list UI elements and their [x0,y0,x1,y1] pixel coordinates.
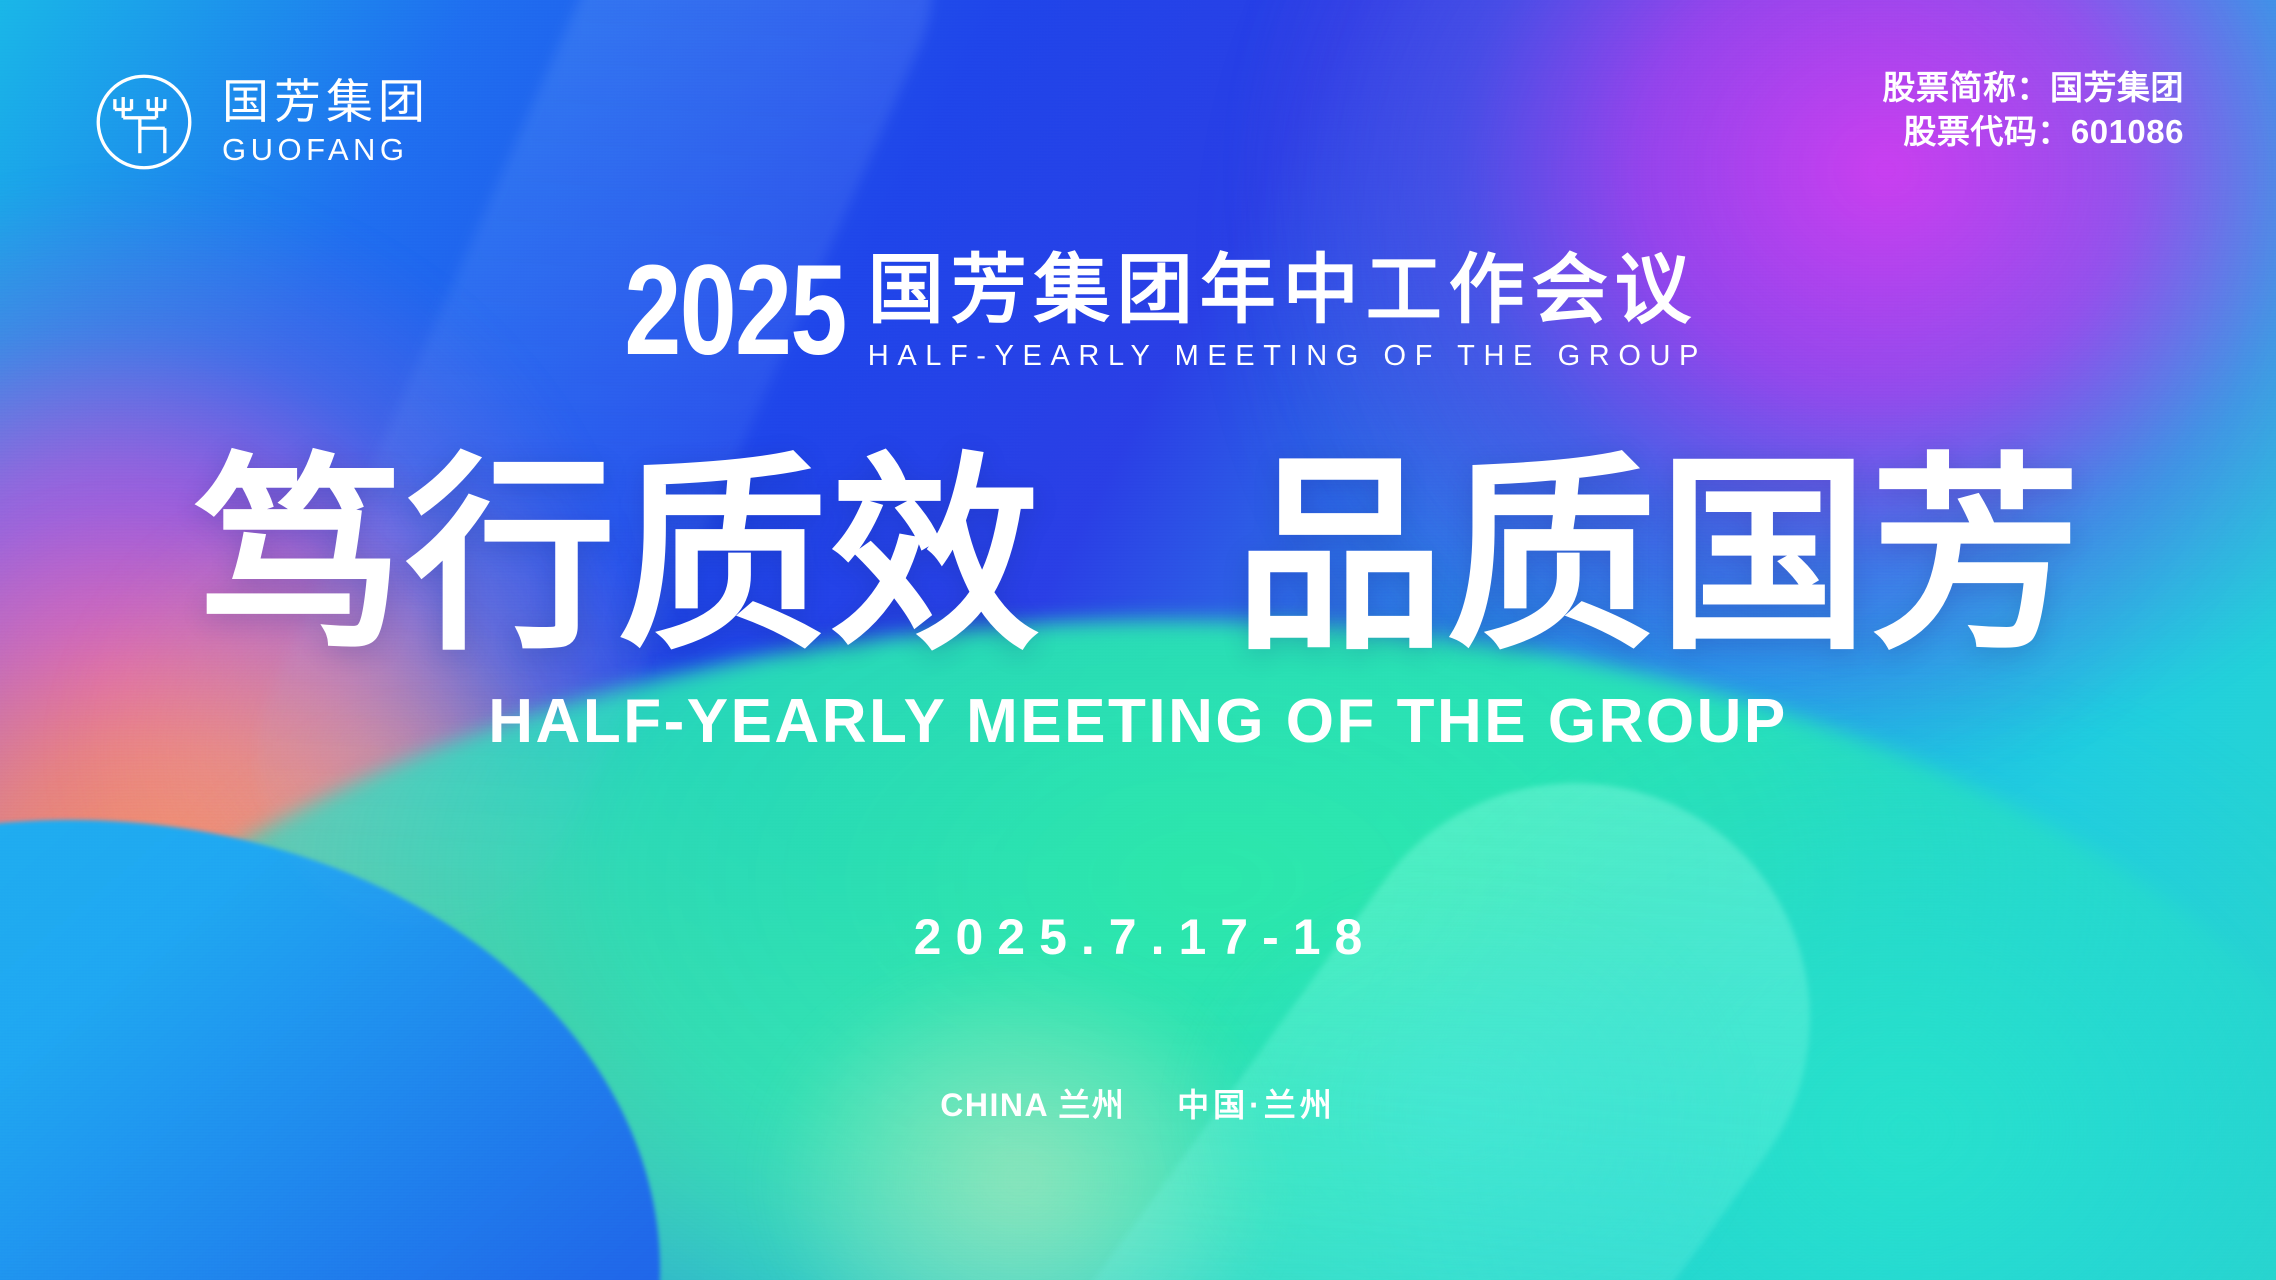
headline-block: 笃行质效 品质国芳 HALF-YEARLY MEETING OF THE GRO… [0,452,2276,757]
event-location-en: CHINA 兰州 [940,1087,1125,1123]
poster-canvas: 国芳集团 GUOFANG 股票简称：国芳集团 股票代码：601086 2025 … [0,0,2276,1280]
headline-cn-right: 品质国芳 [1234,439,2082,674]
event-date: 2025.7.17-18 [0,908,2276,966]
headline-cn-left: 笃行质效 [194,439,1042,674]
brand-wordmark: 国芳集团 GUOFANG [222,80,430,165]
event-title-block: 2025 国芳集团年中工作会议 HALF-YEARLY MEETING OF T… [0,252,2276,373]
stock-name-line: 股票简称：国芳集团 [1883,66,2185,110]
event-title-cn: 国芳集团年中工作会议 [868,252,1707,330]
event-year: 2025 [624,252,845,370]
event-location-cn: 中国·兰州 [1177,1087,1336,1123]
stock-code-line: 股票代码：601086 [1883,110,2185,154]
guofang-deer-circle-icon [92,70,196,174]
stock-info: 股票简称：国芳集团 股票代码：601086 [1883,66,2185,154]
headline-cn: 笃行质效 品质国芳 [0,452,2276,662]
brand-name-cn: 国芳集团 [222,80,430,127]
event-title-text: 国芳集团年中工作会议 HALF-YEARLY MEETING OF THE GR… [868,252,1707,373]
brand-name-en: GUOFANG [222,134,430,165]
headline-en: HALF-YEARLY MEETING OF THE GROUP [0,686,2276,757]
poster-content: 国芳集团 GUOFANG 股票简称：国芳集团 股票代码：601086 2025 … [0,0,2276,1280]
event-location: CHINA 兰州 中国·兰州 [0,1080,2276,1126]
brand-logo-lockup: 国芳集团 GUOFANG [92,70,430,174]
event-title-en: HALF-YEARLY MEETING OF THE GROUP [868,340,1707,373]
